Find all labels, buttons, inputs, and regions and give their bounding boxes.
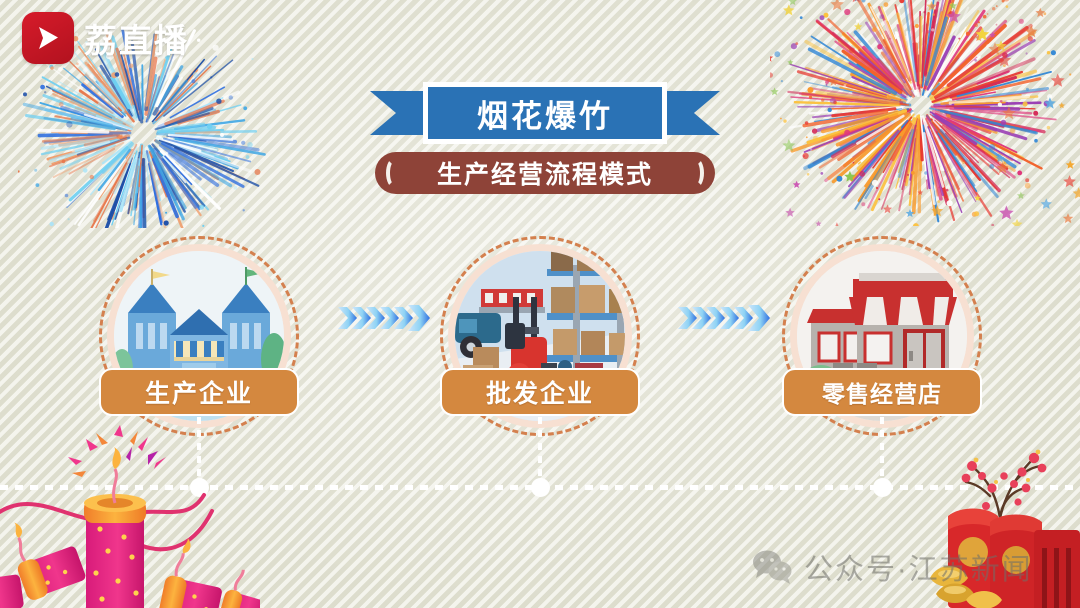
banner-plate: 烟花爆竹 <box>423 82 667 144</box>
node-label-wholesale[interactable]: 批发企业 <box>440 368 640 416</box>
channel-logo: 荔直播 <box>22 12 189 64</box>
timeline-dot-3 <box>873 478 892 497</box>
flow-node-retail[interactable]: 零售经营店 <box>782 236 982 436</box>
timeline-dot-1 <box>190 478 209 497</box>
node-label-text: 零售经营店 <box>822 375 942 409</box>
banner-subtitle: 生产经营流程模式 <box>437 155 653 191</box>
chevron-right-arrows-icon <box>678 303 770 333</box>
bracket-right-icon <box>688 158 704 188</box>
subtitle-banner: 生产经营流程模式 <box>375 152 715 194</box>
firework-right-icon <box>770 0 1080 226</box>
play-triangle-icon <box>22 12 74 64</box>
flow-node-production[interactable]: 生产企业 <box>99 236 299 436</box>
connector-line-1 <box>197 417 201 487</box>
node-label-retail[interactable]: 零售经营店 <box>782 368 982 416</box>
flow-node-wholesale[interactable]: 批发企业 <box>440 236 640 436</box>
flow-arrow-2 <box>678 303 770 333</box>
connector-line-2 <box>538 417 542 487</box>
timeline-dot-2 <box>531 478 550 497</box>
node-label-production[interactable]: 生产企业 <box>99 368 299 416</box>
flow-arrow-1 <box>338 303 430 333</box>
banner-title: 烟花爆竹 <box>477 91 613 136</box>
connector-line-3 <box>880 417 884 487</box>
wechat-watermark: 公众号·江苏新闻 <box>752 546 1033 588</box>
node-label-text: 生产企业 <box>145 374 253 410</box>
chevron-right-arrows-icon <box>338 303 430 333</box>
logo-text: 荔直播 <box>84 14 189 62</box>
node-label-text: 批发企业 <box>486 374 594 410</box>
wechat-icon <box>752 550 792 584</box>
watermark-text: 公众号·江苏新闻 <box>804 546 1033 588</box>
title-banner: 烟花爆竹 <box>370 82 720 144</box>
pink-firecrackers-illustration <box>0 425 260 608</box>
infographic-canvas: 荔直播 烟花爆竹 生产经营流程模式 <box>0 0 1080 608</box>
bracket-left-icon <box>386 158 402 188</box>
